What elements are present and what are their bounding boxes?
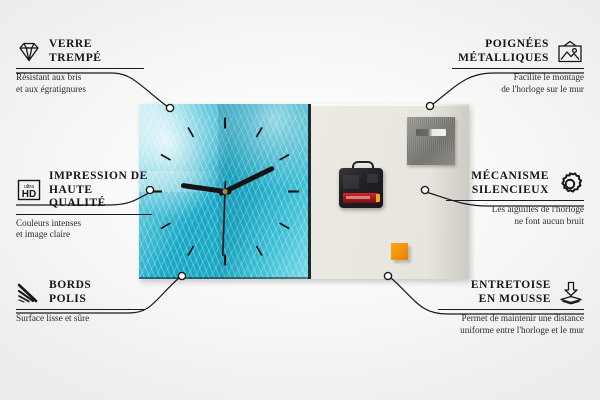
battery-terminal bbox=[376, 194, 380, 202]
callout-divider bbox=[446, 200, 584, 201]
callout-title: IMPRESSION DE HAUTE QUALITÉ bbox=[49, 170, 152, 211]
callout-verre-trempe: VERRE TREMPÉ Résistant aux bris et aux é… bbox=[16, 38, 144, 95]
callout-mecanisme-silencieux: MÉCANISME SILENCIEUX Les aiguilles de l'… bbox=[446, 170, 584, 227]
callout-divider bbox=[452, 68, 584, 69]
wall-hanger-icon bbox=[556, 40, 584, 64]
callout-title: BORDS POLIS bbox=[49, 279, 91, 306]
callout-poignees-metalliques: POIGNÉES MÉTALLIQUES Facilite le montage… bbox=[452, 38, 584, 95]
clock-hands-layer bbox=[139, 104, 311, 279]
diamond-icon bbox=[16, 41, 42, 63]
callout-entretoise-en-mousse: ENTRETOISE EN MOUSSE Permet de maintenir… bbox=[438, 279, 584, 336]
callout-subtitle: Couleurs intenses et image claire bbox=[16, 218, 152, 241]
callout-divider bbox=[16, 68, 144, 69]
callout-bords-polis: BORDS POLIS Surface lisse et sûre bbox=[16, 279, 144, 325]
hour-tick bbox=[161, 155, 171, 161]
keyhole-slot bbox=[416, 129, 446, 136]
callout-subtitle: Facilite le montage de l'horloge sur le … bbox=[452, 72, 584, 95]
callout-header: MÉCANISME SILENCIEUX bbox=[446, 170, 584, 197]
callout-header: ENTRETOISE EN MOUSSE bbox=[438, 279, 584, 306]
hour-tick bbox=[257, 127, 263, 137]
product-image bbox=[139, 104, 469, 279]
hour-tick bbox=[280, 155, 290, 161]
polished-edges-icon bbox=[16, 282, 42, 304]
mechanism-detail-a bbox=[343, 175, 359, 189]
minute-hand bbox=[221, 169, 271, 194]
callout-subtitle: Les aiguilles de l'horloge ne font aucun… bbox=[446, 204, 584, 227]
callout-divider bbox=[16, 214, 152, 215]
battery bbox=[343, 193, 379, 203]
hour-tick bbox=[280, 223, 290, 229]
callout-header: ultra HD IMPRESSION DE HAUTE QUALITÉ bbox=[16, 170, 152, 211]
callout-title: MÉCANISME SILENCIEUX bbox=[471, 170, 549, 197]
hour-tick bbox=[161, 223, 171, 229]
callout-header: BORDS POLIS bbox=[16, 279, 144, 306]
foam-spacer bbox=[391, 243, 408, 260]
callout-title: POIGNÉES MÉTALLIQUES bbox=[458, 38, 549, 65]
battery-label bbox=[346, 196, 370, 199]
ultra-hd-icon: ultra HD bbox=[16, 178, 42, 202]
mechanism-body bbox=[339, 168, 383, 208]
hour-tick bbox=[257, 246, 263, 256]
hour-tick bbox=[188, 246, 194, 256]
svg-text:HD: HD bbox=[22, 189, 36, 200]
callout-title: ENTRETOISE EN MOUSSE bbox=[471, 279, 551, 306]
metal-grain bbox=[407, 117, 455, 165]
callout-divider bbox=[16, 309, 144, 310]
callout-subtitle: Résistant aux bris et aux égratignures bbox=[16, 72, 144, 95]
callout-header: POIGNÉES MÉTALLIQUES bbox=[452, 38, 584, 65]
infographic-canvas: VERRE TREMPÉ Résistant aux bris et aux é… bbox=[0, 0, 600, 400]
callout-subtitle: Surface lisse et sûre bbox=[16, 313, 144, 325]
clock-mechanism bbox=[339, 165, 383, 208]
callout-header: VERRE TREMPÉ bbox=[16, 38, 144, 65]
callout-impression-haute-qualite: ultra HD IMPRESSION DE HAUTE QUALITÉ Cou… bbox=[16, 170, 152, 241]
gear-icon bbox=[556, 171, 584, 197]
callout-divider bbox=[438, 309, 584, 310]
callout-subtitle: Permet de maintenir une distance uniform… bbox=[438, 313, 584, 336]
hour-tick bbox=[188, 127, 194, 137]
callout-title: VERRE TREMPÉ bbox=[49, 38, 102, 65]
mechanism-detail-b bbox=[367, 174, 378, 183]
center-cap bbox=[222, 189, 227, 194]
hanger-plate bbox=[407, 117, 455, 165]
foam-spacer-icon bbox=[558, 281, 584, 305]
